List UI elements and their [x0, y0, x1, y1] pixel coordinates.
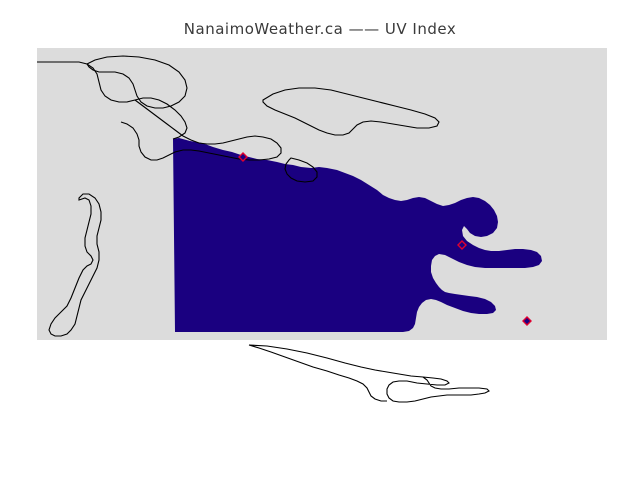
page-title: NanaimoWeather.ca —— UV Index [0, 20, 640, 38]
map-graphic[interactable] [27, 40, 613, 412]
ocean-background-left [27, 40, 37, 412]
colorbar-block: 0 4 8 12 index 2026/04/19 06:04 [0, 420, 640, 480]
ocean-background-lower [27, 340, 613, 412]
map-panel[interactable] [27, 40, 613, 412]
uv-index-map-page: NanaimoWeather.ca —— UV Index [0, 0, 640, 480]
ocean-background-right [607, 40, 613, 412]
ocean-background-top [27, 40, 613, 48]
